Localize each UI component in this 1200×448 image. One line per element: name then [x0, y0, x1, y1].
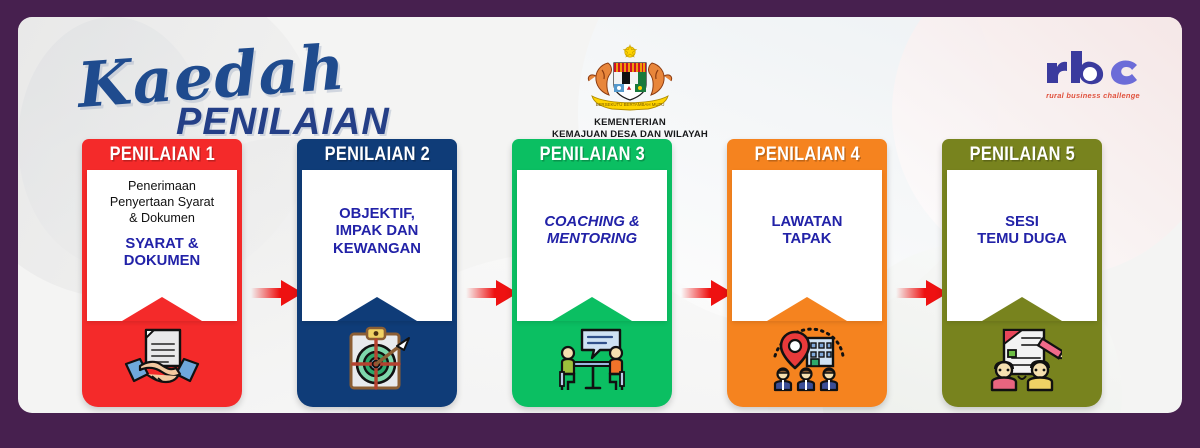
- step-5-icon-wrap: [942, 328, 1102, 397]
- ministry-crest: BERSEKUTU BERTAMBAH MUTU KEMENTERIAN KEM…: [541, 43, 719, 141]
- step-4-icon-wrap: [727, 326, 887, 397]
- step-3-header-label: PENILAIAN 3: [539, 144, 644, 166]
- step-1-body: Penerimaan Penyertaan Syarat & Dokumen S…: [87, 170, 237, 270]
- step-1-header-label: PENILAIAN 1: [109, 144, 214, 166]
- poster-panel: Kaedah PENILAIAN: [18, 17, 1182, 413]
- svg-text:BERSEKUTU BERTAMBAH MUTU: BERSEKUTU BERTAMBAH MUTU: [596, 102, 665, 107]
- meeting-speech-bubble-icon: [554, 328, 630, 392]
- step-2-line-1: OBJEKTIF,: [308, 206, 446, 223]
- step-4-notch: [767, 297, 847, 321]
- step-1-panel: Penerimaan Penyertaan Syarat & Dokumen S…: [87, 170, 237, 321]
- step-5-notch: [982, 297, 1062, 321]
- step-card-1[interactable]: PENILAIAN 1 Penerimaan Penyertaan Syarat…: [82, 139, 242, 409]
- step-2-panel: OBJEKTIF, IMPAK DAN KEWANGAN: [302, 170, 452, 321]
- step-card-4[interactable]: PENILAIAN 4 LAWATAN TAPAK: [727, 139, 887, 409]
- step-3-body: COACHING & MENTORING: [517, 170, 667, 249]
- right-arrow-icon: [896, 278, 948, 308]
- step-card-3[interactable]: PENILAIAN 3 COACHING & MENTORING: [512, 139, 672, 409]
- crest-line-1: KEMENTERIAN: [541, 117, 719, 129]
- step-1-header: PENILAIAN 1: [82, 139, 242, 170]
- step-4-line-2: TAPAK: [738, 231, 876, 248]
- flow-arrow-3: [681, 278, 733, 308]
- step-card-5[interactable]: PENILAIAN 5 SESI TEMU DUGA: [942, 139, 1102, 409]
- step-2-line-2: IMPAK DAN: [308, 223, 446, 240]
- right-arrow-icon: [251, 278, 303, 308]
- step-3-line-2: MENTORING: [523, 231, 661, 248]
- rbc-logo-mark-icon: [1041, 49, 1145, 85]
- step-4-line-1: LAWATAN: [738, 214, 876, 231]
- handshake-document-icon: [124, 326, 200, 392]
- step-3-line-1: COACHING &: [523, 214, 661, 231]
- step-1-line-1: Penerimaan: [93, 179, 231, 194]
- step-4-header-label: PENILAIAN 4: [754, 144, 859, 166]
- step-4-header: PENILAIAN 4: [727, 139, 887, 170]
- clipboard-target-icon: [341, 326, 413, 392]
- right-arrow-icon: [466, 278, 518, 308]
- interview-session-icon: [982, 328, 1062, 392]
- step-3-header: PENILAIAN 3: [512, 139, 672, 170]
- site-visit-location-icon: [767, 326, 847, 392]
- rbc-logo: rural business challenge: [1034, 49, 1152, 100]
- step-card-2[interactable]: PENILAIAN 2 OBJEKTIF, IMPAK DAN KEWANGAN: [297, 139, 457, 409]
- step-1-line-5: DOKUMEN: [93, 253, 231, 270]
- poster-frame: Kaedah PENILAIAN: [0, 0, 1200, 448]
- step-1-notch: [122, 297, 202, 321]
- step-2-icon-wrap: [297, 326, 457, 397]
- step-4-panel: LAWATAN TAPAK: [732, 170, 882, 321]
- step-2-notch: [337, 297, 417, 321]
- right-arrow-icon: [681, 278, 733, 308]
- page-title: Kaedah PENILAIAN: [80, 55, 440, 141]
- step-2-header-label: PENILAIAN 2: [324, 144, 429, 166]
- step-5-panel: SESI TEMU DUGA: [947, 170, 1097, 321]
- malaysia-coat-of-arms-icon: BERSEKUTU BERTAMBAH MUTU: [578, 43, 682, 117]
- step-3-panel: COACHING & MENTORING: [517, 170, 667, 321]
- step-2-line-3: KEWANGAN: [308, 241, 446, 258]
- step-1-line-3: & Dokumen: [93, 211, 231, 226]
- step-3-notch: [552, 297, 632, 321]
- step-2-body: OBJEKTIF, IMPAK DAN KEWANGAN: [302, 170, 452, 258]
- step-5-header-label: PENILAIAN 5: [969, 144, 1074, 166]
- rbc-tagline: rural business challenge: [1034, 91, 1152, 100]
- step-1-line-2: Penyertaan Syarat: [93, 195, 231, 210]
- step-4-body: LAWATAN TAPAK: [732, 170, 882, 249]
- step-5-header: PENILAIAN 5: [942, 139, 1102, 170]
- flow-arrow-2: [466, 278, 518, 308]
- step-1-spacer: [93, 227, 231, 236]
- step-5-line-2: TEMU DUGA: [953, 231, 1091, 248]
- step-1-line-4: SYARAT &: [93, 236, 231, 253]
- flow-arrow-1: [251, 278, 303, 308]
- step-5-line-1: SESI: [953, 214, 1091, 231]
- step-2-header: PENILAIAN 2: [297, 139, 457, 170]
- step-5-body: SESI TEMU DUGA: [947, 170, 1097, 249]
- flow-arrow-4: [896, 278, 948, 308]
- step-3-icon-wrap: [512, 328, 672, 397]
- step-1-icon-wrap: [82, 326, 242, 397]
- evaluation-steps: PENILAIAN 1 Penerimaan Penyertaan Syarat…: [18, 139, 1182, 413]
